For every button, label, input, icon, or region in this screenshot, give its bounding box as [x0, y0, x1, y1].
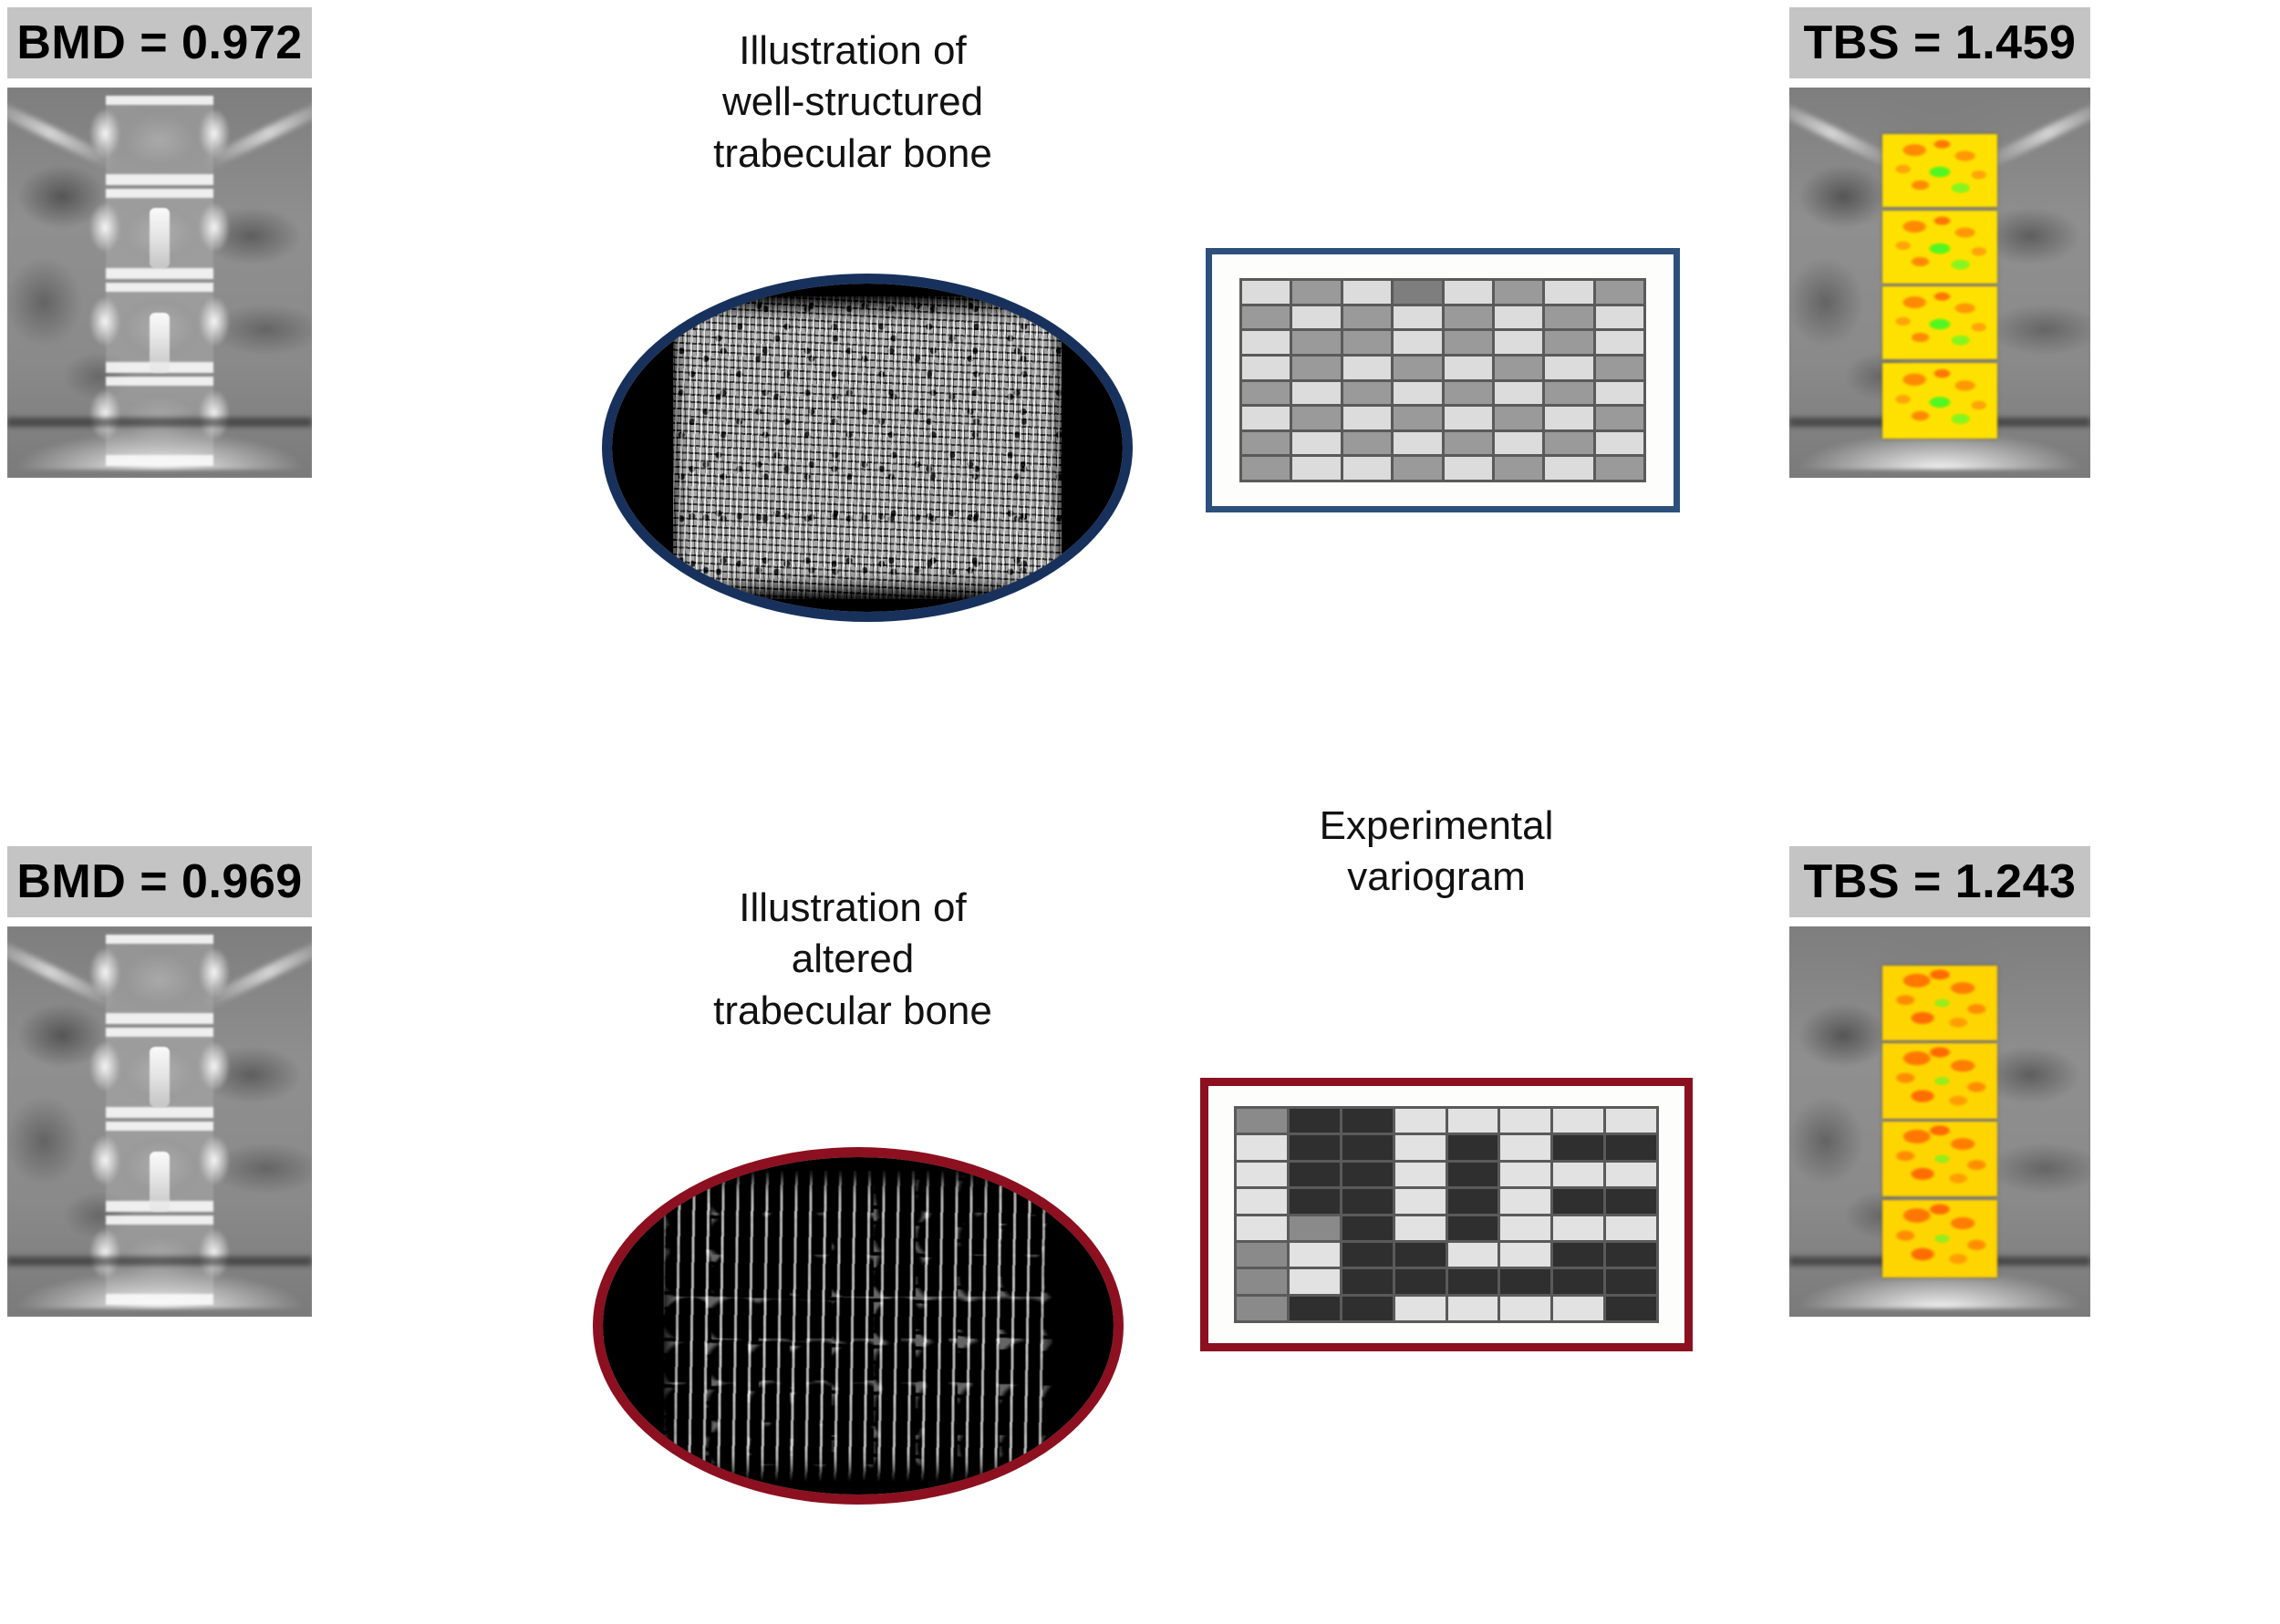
variogram-cell — [1342, 1297, 1393, 1320]
variogram-cell — [1448, 1243, 1498, 1267]
variogram-cell — [1290, 1163, 1340, 1186]
variogram-cell — [1445, 281, 1492, 304]
tbs-colormap-scan-top — [1789, 88, 2090, 478]
variogram-cell — [1445, 382, 1492, 405]
variogram-cell — [1242, 306, 1290, 329]
variogram-cell — [1495, 281, 1542, 304]
vertebral-column — [106, 96, 213, 471]
variogram-cell — [1545, 407, 1592, 429]
variogram-cell — [1495, 457, 1542, 480]
variogram-cell — [1342, 1163, 1393, 1186]
variogram-cell — [1292, 357, 1340, 379]
variogram-cell — [1495, 432, 1542, 455]
variogram-cell — [1237, 1189, 1287, 1213]
variogram-cell — [1242, 407, 1290, 429]
variogram-cell — [1290, 1189, 1340, 1213]
spinous-process-upper — [150, 208, 170, 268]
variogram-cell — [1500, 1243, 1550, 1267]
variogram-cell — [1292, 382, 1340, 405]
variogram-cell — [1445, 331, 1492, 354]
variogram-cell — [1343, 457, 1391, 480]
variogram-cell — [1292, 432, 1340, 455]
variogram-cell — [1553, 1135, 1603, 1159]
tbs-colormap-scan-bottom — [1789, 926, 2090, 1317]
variogram-cell — [1242, 331, 1290, 354]
variogram-cell — [1596, 331, 1643, 354]
variogram-cell — [1448, 1216, 1498, 1240]
variogram-cell — [1606, 1163, 1656, 1186]
variogram-cell — [1596, 457, 1643, 480]
variogram-cell — [1292, 457, 1340, 480]
variogram-cell — [1395, 1243, 1446, 1267]
variogram-cell — [1292, 281, 1340, 304]
variogram-cell — [1290, 1243, 1340, 1267]
variogram-cell — [1596, 306, 1643, 329]
variogram-cell — [1495, 357, 1542, 379]
tbs-value-bottom: TBS = 1.243 — [1789, 846, 2090, 917]
tbs-vertebra-l2 — [1882, 1043, 1997, 1118]
variogram-cell — [1394, 331, 1441, 354]
vertebra-l1 — [106, 96, 213, 186]
variogram-cell — [1343, 432, 1391, 455]
spinous-process-upper — [150, 1047, 170, 1107]
variogram-cell — [1395, 1163, 1446, 1186]
tbs-vertebra-l4 — [1882, 1200, 1997, 1278]
variogram-cell — [1596, 357, 1643, 379]
tbs-vertebra-l1 — [1882, 966, 1997, 1040]
variogram-cell — [1395, 1135, 1446, 1159]
variogram-cell — [1545, 357, 1592, 379]
trabecular-texture-rarefied — [664, 1171, 1052, 1481]
variogram-cell — [1343, 357, 1391, 379]
variogram-cell — [1394, 357, 1441, 379]
dxa-image-bottom — [7, 926, 312, 1317]
pelvic-brim — [7, 417, 312, 470]
variogram-cell — [1553, 1109, 1603, 1133]
variogram-cell — [1445, 432, 1492, 455]
tbs-vertebral-overlay-top — [1882, 134, 1997, 439]
bmd-value-top: BMD = 0.972 — [7, 7, 312, 78]
variogram-cell — [1395, 1189, 1446, 1213]
trabecular-texture-dense — [673, 296, 1062, 598]
variogram-cell — [1342, 1269, 1393, 1293]
variogram-cell — [1394, 457, 1441, 480]
variogram-cell — [1500, 1135, 1550, 1159]
variogram-cell — [1596, 407, 1643, 429]
variogram-cell — [1606, 1109, 1656, 1133]
caption-altered: Illustration of altered trabecular bone — [638, 883, 1067, 1037]
tbs-vertebra-l2 — [1882, 211, 1997, 284]
variogram-cell — [1553, 1269, 1603, 1293]
variogram-cell — [1290, 1135, 1340, 1159]
variogram-cell — [1395, 1109, 1446, 1133]
variogram-cell — [1553, 1243, 1603, 1267]
variogram-cell — [1545, 331, 1592, 354]
variogram-cell — [1545, 432, 1592, 455]
pelvic-brim — [7, 1256, 312, 1309]
trabecular-bone-illustration-top — [602, 274, 1133, 622]
bmd-value-bottom: BMD = 0.969 — [7, 846, 312, 917]
variogram-cell — [1292, 331, 1340, 354]
variogram-cell — [1448, 1163, 1498, 1186]
variogram-cell — [1242, 281, 1290, 304]
variogram-cell — [1290, 1109, 1340, 1133]
variogram-cell — [1606, 1135, 1656, 1159]
tbs-vertebral-overlay-bottom — [1882, 966, 1997, 1277]
variogram-cell — [1237, 1109, 1287, 1133]
variogram-cell — [1237, 1135, 1287, 1159]
dxa-spine-scan-bottom — [7, 926, 312, 1317]
variogram-cell — [1343, 331, 1391, 354]
caption-well-structured: Illustration of well-structured trabecul… — [638, 26, 1067, 180]
trabecular-bone-illustration-bottom — [593, 1147, 1124, 1505]
variogram-cell — [1237, 1163, 1287, 1186]
variogram-grid-bottom — [1234, 1106, 1659, 1323]
variogram-cell — [1495, 382, 1542, 405]
variogram-cell — [1445, 407, 1492, 429]
variogram-cell — [1343, 281, 1391, 304]
variogram-cell — [1237, 1269, 1287, 1293]
variogram-cell — [1342, 1135, 1393, 1159]
tbs-vertebra-l3 — [1882, 286, 1997, 359]
spinous-process-lower — [150, 1152, 170, 1212]
variogram-cell — [1495, 407, 1542, 429]
variogram-cell — [1242, 357, 1290, 379]
variogram-cell — [1596, 281, 1643, 304]
variogram-cell — [1448, 1297, 1498, 1320]
variogram-cell — [1545, 382, 1592, 405]
variogram-cell — [1342, 1189, 1393, 1213]
variogram-cell — [1445, 457, 1492, 480]
variogram-cell — [1553, 1216, 1603, 1240]
variogram-cell — [1500, 1269, 1550, 1293]
variogram-cell — [1394, 281, 1441, 304]
variogram-cell — [1606, 1297, 1656, 1320]
variogram-cell — [1343, 306, 1391, 329]
tbs-vertebra-l1 — [1882, 134, 1997, 207]
variogram-cell — [1242, 382, 1290, 405]
variogram-grid-top — [1239, 278, 1646, 482]
dxa-image-top — [7, 88, 312, 478]
variogram-cell — [1606, 1243, 1656, 1267]
tbs-vertebra-l3 — [1882, 1122, 1997, 1196]
variogram-cell — [1445, 357, 1492, 379]
variogram-cell — [1553, 1297, 1603, 1320]
variogram-cell — [1237, 1216, 1287, 1240]
variogram-cell — [1395, 1269, 1446, 1293]
vertebral-column — [106, 935, 213, 1309]
variogram-cell — [1545, 306, 1592, 329]
variogram-cell — [1237, 1297, 1287, 1320]
variogram-cell — [1596, 432, 1643, 455]
variogram-cell — [1342, 1216, 1393, 1240]
variogram-cell — [1448, 1135, 1498, 1159]
variogram-cell — [1290, 1269, 1340, 1293]
variogram-cell — [1553, 1163, 1603, 1186]
variogram-cell — [1500, 1297, 1550, 1320]
variogram-cell — [1495, 306, 1542, 329]
variogram-cell — [1596, 382, 1643, 405]
variogram-well-structured — [1206, 248, 1680, 512]
variogram-cell — [1343, 407, 1391, 429]
variogram-cell — [1395, 1216, 1446, 1240]
variogram-cell — [1342, 1109, 1393, 1133]
variogram-cell — [1545, 457, 1592, 480]
variogram-cell — [1292, 407, 1340, 429]
variogram-cell — [1500, 1189, 1550, 1213]
tbs-vertebra-l4 — [1882, 363, 1997, 439]
dxa-spine-scan-top — [7, 88, 312, 478]
variogram-cell — [1495, 331, 1542, 354]
caption-experimental-variogram: Experimental variogram — [1222, 801, 1651, 904]
variogram-cell — [1445, 306, 1492, 329]
variogram-cell — [1394, 407, 1441, 429]
variogram-cell — [1448, 1109, 1498, 1133]
variogram-cell — [1290, 1297, 1340, 1320]
variogram-cell — [1292, 306, 1340, 329]
tbs-value-top: TBS = 1.459 — [1789, 7, 2090, 78]
spinous-process-lower — [150, 313, 170, 373]
variogram-cell — [1394, 306, 1441, 329]
variogram-cell — [1448, 1189, 1498, 1213]
variogram-cell — [1395, 1297, 1446, 1320]
vertebra-l1 — [106, 935, 213, 1025]
variogram-cell — [1606, 1189, 1656, 1213]
variogram-cell — [1394, 432, 1441, 455]
variogram-cell — [1342, 1243, 1393, 1267]
variogram-cell — [1242, 457, 1290, 480]
variogram-cell — [1500, 1216, 1550, 1240]
variogram-cell — [1242, 432, 1290, 455]
variogram-cell — [1606, 1216, 1656, 1240]
variogram-altered — [1200, 1078, 1693, 1351]
variogram-cell — [1343, 382, 1391, 405]
variogram-cell — [1545, 281, 1592, 304]
variogram-cell — [1553, 1189, 1603, 1213]
variogram-cell — [1394, 382, 1441, 405]
variogram-cell — [1500, 1163, 1550, 1186]
variogram-cell — [1290, 1216, 1340, 1240]
variogram-cell — [1500, 1109, 1550, 1133]
variogram-cell — [1606, 1269, 1656, 1293]
variogram-cell — [1237, 1243, 1287, 1267]
variogram-cell — [1448, 1269, 1498, 1293]
